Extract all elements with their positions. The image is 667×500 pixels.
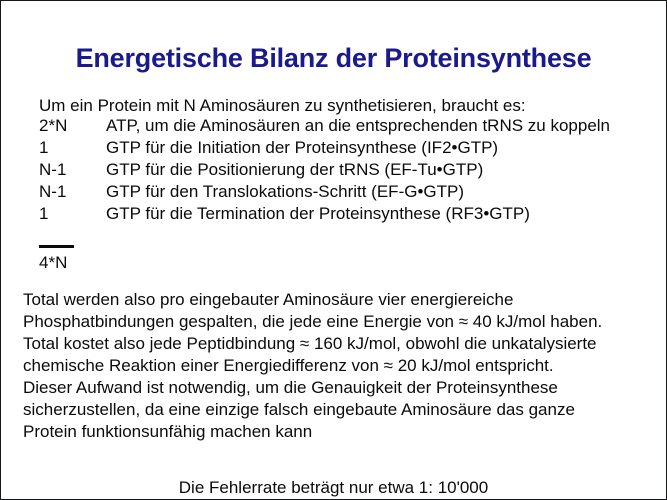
body-line: Total werden also pro eingebauter Aminos… [23, 289, 663, 311]
cost-description: GTP für die Termination der Proteinsynth… [106, 203, 610, 225]
error-rate-footnote: Die Fehlerrate beträgt nur etwa 1: 10'00… [1, 478, 666, 498]
cost-description: GTP für die Positionierung der tRNS (EF-… [106, 159, 610, 181]
body-paragraph: Total werden also pro eingebauter Aminos… [23, 289, 663, 443]
cost-description: GTP für die Initiation der Proteinsynthe… [106, 137, 610, 159]
slide-canvas: Energetische Bilanz der Proteinsynthese … [0, 0, 667, 500]
cost-quantity: 1 [39, 203, 106, 225]
cost-quantity: 1 [39, 137, 106, 159]
cost-quantity: 2*N [39, 115, 106, 137]
cost-description: GTP für den Translokations-Schritt (EF-G… [106, 181, 610, 203]
table-row: N-1 GTP für den Translokations-Schritt (… [39, 181, 610, 203]
body-line: chemische Reaktion einer Energiedifferen… [23, 355, 663, 377]
cost-quantity: N-1 [39, 159, 106, 181]
body-line: Phosphatbindungen gespalten, die jede ei… [23, 311, 663, 333]
cost-description: ATP, um die Aminosäuren an die entsprech… [106, 115, 610, 137]
table-row: 1 GTP für die Termination der Proteinsyn… [39, 203, 610, 225]
cost-quantity: N-1 [39, 181, 106, 203]
sum-divider-rule [39, 245, 74, 248]
table-row: 1 GTP für die Initiation der Proteinsynt… [39, 137, 610, 159]
intro-sentence: Um ein Protein mit N Aminosäuren zu synt… [39, 96, 526, 116]
body-line: Dieser Aufwand ist notwendig, um die Gen… [23, 377, 663, 399]
energy-cost-table: 2*N ATP, um die Aminosäuren an die entsp… [39, 115, 610, 225]
cost-total: 4*N [39, 253, 67, 273]
energy-cost-table-body: 2*N ATP, um die Aminosäuren an die entsp… [39, 115, 610, 225]
table-row: N-1 GTP für die Positionierung der tRNS … [39, 159, 610, 181]
page-title: Energetische Bilanz der Proteinsynthese [1, 43, 666, 74]
body-line: Total kostet also jede Peptidbindung ≈ 1… [23, 333, 663, 355]
body-line: sicherzustellen, da eine einzige falsch … [23, 399, 663, 421]
body-line: Protein funktionsunfähig machen kann [23, 421, 663, 443]
table-row: 2*N ATP, um die Aminosäuren an die entsp… [39, 115, 610, 137]
